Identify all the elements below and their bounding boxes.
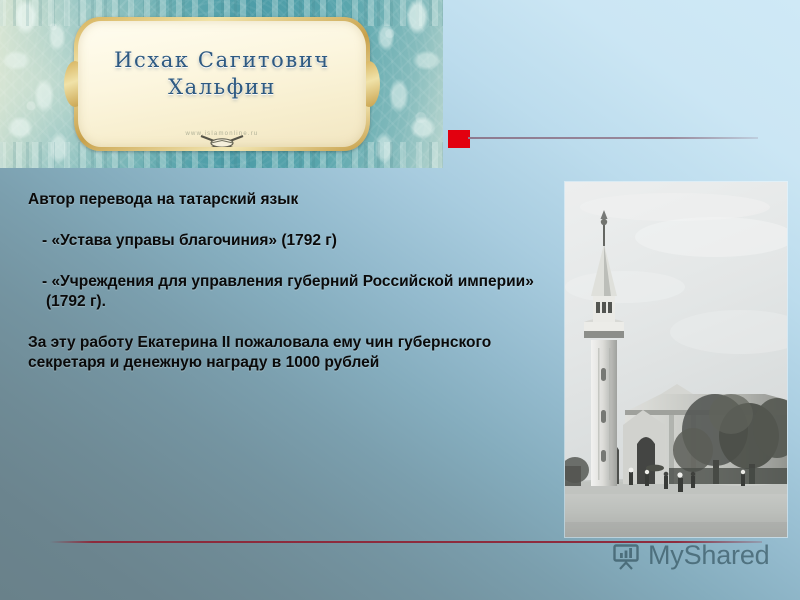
myshared-watermark: MyShared (611, 540, 769, 571)
title-cartouche-frame: Исхак Сагитович Хальфин www.islamonline.… (74, 17, 370, 151)
body-closing-paragraph: За эту работу Екатерина II пожаловала ем… (28, 333, 556, 373)
historical-mosque-photo (565, 182, 787, 537)
myshared-watermark-label: MyShared (648, 540, 769, 571)
page-title: Исхак Сагитович Хальфин (78, 47, 366, 101)
red-accent-tab-icon (448, 130, 470, 148)
presentation-chart-icon (611, 541, 641, 571)
mosque-photograph-graphic (565, 182, 787, 537)
body-bullet-2: - «Учреждения для управления губерний Ро… (28, 272, 556, 312)
banner-credit-text: www.islamonline.ru (78, 131, 366, 137)
body-bullet-1: - «Устава управы благочиния» (1792 г) (28, 231, 556, 251)
body-lead-line: Автор перевода на татарский язык (28, 190, 556, 210)
top-rule-line (468, 137, 758, 139)
top-accent-rule (448, 126, 758, 148)
title-cartouche-inner: Исхак Сагитович Хальфин www.islamonline.… (78, 21, 366, 147)
presentation-slide: Исхак Сагитович Хальфин www.islamonline.… (0, 0, 800, 600)
slide-body-text: Автор перевода на татарский язык - «Уста… (28, 190, 556, 373)
title-banner: Исхак Сагитович Хальфин www.islamonline.… (0, 0, 443, 168)
